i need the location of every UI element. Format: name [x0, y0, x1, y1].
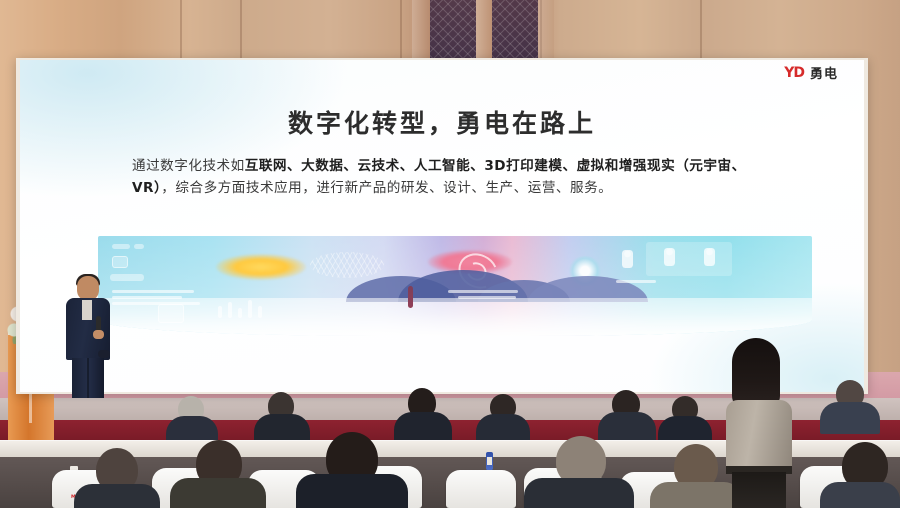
presenter-legs	[72, 358, 104, 398]
panorama-ui-line	[112, 290, 194, 293]
attendee-shoulders	[524, 478, 634, 508]
attendee-shoulders	[296, 474, 408, 508]
panorama-ui-card	[134, 244, 144, 249]
panorama-ui-bar	[258, 306, 262, 318]
chair-with-cover	[446, 470, 516, 508]
presenter	[58, 276, 120, 398]
slide-panorama-photo	[98, 236, 812, 336]
attendee-shoulders	[254, 414, 310, 442]
attendee-shoulders	[820, 402, 880, 434]
body-line3-plain: 研发、设计、生产、运营、服务。	[401, 180, 612, 196]
attendee-shoulders	[658, 416, 712, 442]
panorama-walking-figure	[408, 286, 413, 308]
panorama-icon-panel	[646, 242, 732, 276]
presenter-head	[77, 276, 99, 300]
slide-title: 数字化转型，勇电在路上	[20, 104, 864, 140]
attendee-shoulders	[166, 416, 218, 442]
panorama-ui-line	[616, 280, 656, 283]
attendee-shoulders	[170, 478, 266, 508]
brain-graphic-icon	[310, 252, 384, 278]
attendee-skirt	[732, 472, 786, 508]
panorama-reflection	[98, 298, 812, 336]
panorama-ui-bar	[238, 308, 242, 318]
standing-attendee	[726, 338, 792, 508]
yd-mark-icon: YD	[784, 66, 804, 80]
panorama-ui-line	[448, 290, 518, 293]
attendee-shoulders	[74, 484, 160, 508]
attendee-coat	[726, 400, 792, 474]
wall-lattice-panel-left	[430, 0, 476, 66]
attendee-shoulders	[820, 482, 900, 508]
panorama-ui-line	[112, 296, 182, 299]
panorama-ui-bar	[248, 300, 252, 318]
person-icon	[664, 248, 675, 266]
attendee-shoulders	[476, 414, 530, 442]
yd-wordmark: 勇电	[810, 67, 838, 80]
panorama-ui-bar	[228, 302, 232, 318]
person-icon	[622, 250, 633, 268]
presenter-hand	[98, 350, 110, 358]
person-icon	[704, 248, 715, 266]
presenter-hand	[93, 330, 104, 339]
panorama-sun-glow	[216, 254, 306, 280]
panorama-ui-bar	[218, 306, 222, 318]
attendee-shoulders	[394, 412, 452, 442]
panorama-ui-tile	[112, 256, 128, 268]
slide-body-text: 通过数字化技术如互联网、大数据、云技术、人工智能、3D打印建模、虚拟和增强现实（…	[132, 155, 772, 199]
screenshot-root: YD 勇电 数字化转型，勇电在路上 通过数字化技术如互联网、大数据、云技术、人工…	[0, 0, 900, 508]
panorama-ui-tile	[158, 304, 184, 323]
slide-logo: YD 勇电	[784, 66, 838, 80]
panorama-ui-line	[112, 302, 200, 305]
attendee-shoulders	[598, 412, 656, 442]
panorama-ui-line	[458, 296, 516, 299]
water-bottle	[486, 452, 493, 471]
body-line1-plain: 通过数字化技术如	[132, 158, 245, 174]
body-line1-bold: 互联网、大数据、云技术、人工智能、3D打印建模、	[245, 158, 577, 174]
presenter-shirt	[82, 300, 92, 320]
panorama-ui-card	[112, 244, 130, 249]
wall-lattice-panel-right	[492, 0, 538, 66]
body-line2-plain: ，综合多方面技术应用，进行新产品的	[161, 180, 401, 196]
